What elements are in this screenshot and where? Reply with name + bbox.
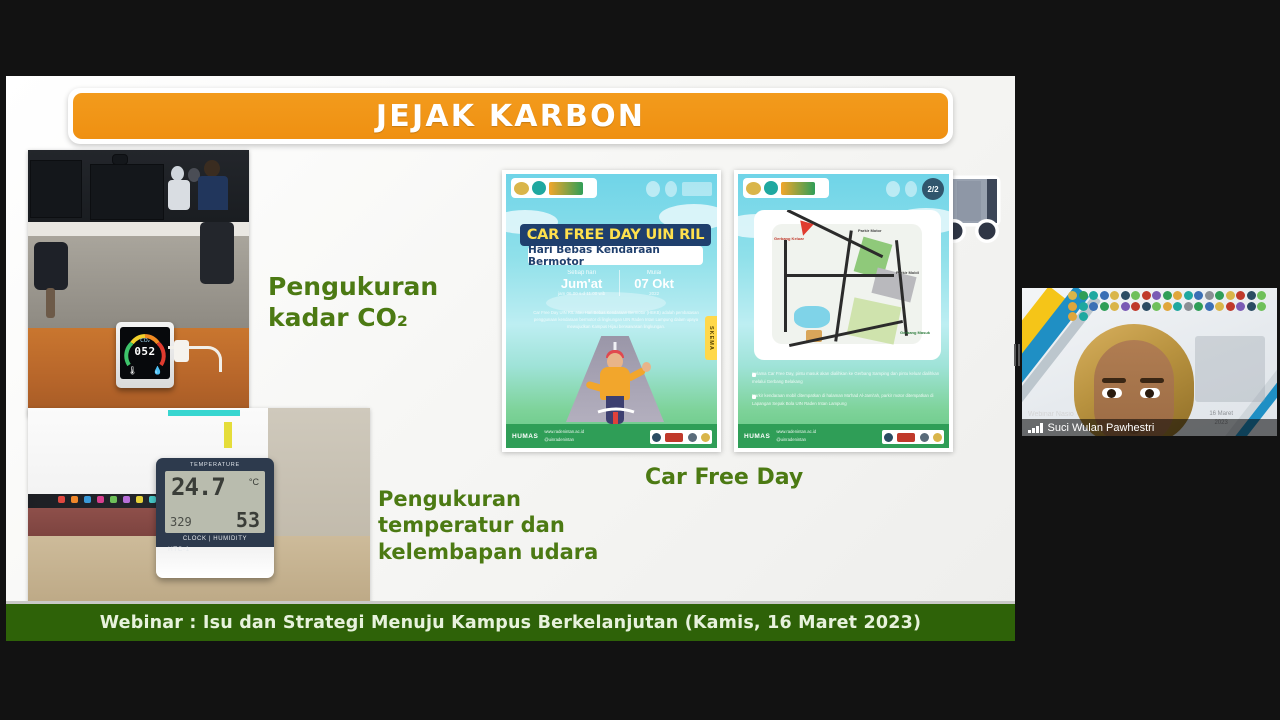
caption-temperature: Pengukuran temperatur dan kelembapan uda…	[378, 486, 598, 565]
poster-left-cert-logos	[650, 430, 712, 444]
slide-title-bar: JEJAK KARBON	[73, 93, 948, 139]
co2-meter-device: CO₂ 052 🌡💧	[116, 322, 174, 388]
photo-co2-measurement: CO₂ 052 🌡💧	[28, 150, 249, 417]
poster-left-partner-logos	[646, 179, 712, 199]
slide-title-text: JEJAK KARBON	[376, 99, 645, 134]
caption-car-free-day: Car Free Day	[645, 464, 803, 492]
temperature-unit: °C	[249, 477, 259, 487]
poster-when-label: Setiap hari	[558, 270, 605, 276]
poster-humas-label: HUMAS	[512, 433, 538, 440]
map-label-2: Parkir Mobil	[896, 270, 919, 275]
poster-right-cert-logos	[882, 430, 944, 444]
humidity-value: 53	[236, 508, 260, 532]
participant-video-tile[interactable]: Webinar Nasio 16 Maret 2023 Suci Wulan P…	[1022, 288, 1277, 436]
thermo-model-label: HTC-1	[168, 546, 190, 553]
thermo-hygrometer-device: TEMPERATURE 24.7 °C 329 53 CLOCK | HUMID…	[156, 458, 274, 578]
poster-schedule: Setiap hari Jum'at jam 06.00 s.d 11.00 w…	[530, 270, 702, 296]
map-label-3: Gerbang Masuk	[900, 330, 930, 335]
caption-temp-line1: Pengukuran	[378, 486, 598, 512]
photo-temperature-humidity: TEMPERATURE 24.7 °C 329 53 CLOCK | HUMID…	[28, 408, 370, 604]
caption-co2: Pengukuran kadar CO₂	[268, 271, 438, 334]
poster-social: @uinradenintan	[544, 436, 584, 444]
poster-left-logo-bar	[511, 178, 597, 198]
panel-resize-handle[interactable]	[1014, 344, 1020, 366]
webcam-partner-logo-strip	[1068, 291, 1268, 315]
poster-start-year: 2022	[634, 291, 674, 296]
caption-temp-line2: temperatur dan	[378, 512, 598, 538]
meeting-screen: JEJAK KARBON	[0, 0, 1280, 720]
map-label-1: Parkir Motor	[858, 228, 882, 233]
slide-title-banner: JEJAK KARBON	[68, 88, 953, 144]
poster-right-logo-bar	[743, 178, 829, 198]
webcam-date-line1: 16 Maret	[1209, 410, 1233, 419]
poster-when-value: Jum'at	[558, 276, 605, 291]
caption-temp-line3: kelembapan udara	[378, 539, 598, 565]
co2-sub-icons: 🌡💧	[120, 366, 170, 375]
thermo-lcd: 24.7 °C 329 53	[165, 471, 265, 533]
map-note-0: Selama Car Free Day, pintu masuk akan di…	[752, 370, 942, 385]
poster-right-social: @uinradenintan	[776, 436, 816, 444]
poster-start-value: 07 Okt	[634, 276, 674, 291]
poster-side-tab: SKEMA	[705, 316, 717, 360]
webcam-background-building	[1195, 336, 1265, 402]
caption-co2-line2: kadar CO₂	[268, 302, 438, 333]
slide-footer-banner: Webinar : Isu dan Strategi Menuju Kampus…	[6, 601, 1015, 641]
webcam-overlay-text: Webinar Nasio	[1028, 411, 1074, 418]
clock-value: 329	[170, 515, 192, 529]
participant-name-bar: Suci Wulan Pawhestri	[1022, 419, 1277, 436]
temperature-value: 24.7	[171, 473, 225, 501]
signal-strength-icon	[1028, 423, 1043, 433]
map-label-0: Gerbang Keluar	[774, 236, 804, 241]
poster-car-free-day: CAR FREE DAY UIN RIL Hari Bebas Kendaraa…	[502, 170, 721, 452]
poster-car-free-day-map: 2/2 Gerbang Keluar	[734, 170, 953, 452]
co2-reading: 052	[120, 345, 170, 358]
co2-label: CO₂	[120, 338, 170, 344]
map-note-1: Parkir kendaraan mobil ditempatkan di ha…	[752, 392, 942, 407]
thermo-bottom-label: CLOCK | HUMIDITY	[156, 536, 274, 542]
poster-when-time: jam 06.00 s.d 11.00 wib	[558, 291, 605, 296]
poster-right-humas-label: HUMAS	[744, 433, 770, 440]
thermo-top-label: TEMPERATURE	[156, 462, 274, 468]
campus-map: Gerbang Keluar Parkir Motor Parkir Mobil…	[754, 210, 941, 360]
poster-right-partner-logos: 2/2	[886, 179, 944, 199]
poster-page-badge: 2/2	[922, 178, 944, 200]
participant-name: Suci Wulan Pawhestri	[1048, 422, 1155, 434]
poster-body-text: Car Free Day UIN RIL atau Hari Bebas Ken…	[526, 309, 706, 330]
poster-start-label: Mulai	[634, 270, 674, 276]
shared-presentation-slide: JEJAK KARBON	[6, 76, 1015, 641]
poster-right-website: www.radenintan.ac.id	[776, 428, 816, 436]
caption-co2-line1: Pengukuran	[268, 271, 438, 302]
poster-subtitle: Hari Bebas Kendaraan Bermotor	[528, 246, 703, 265]
slide-footer-text: Webinar : Isu dan Strategi Menuju Kampus…	[100, 613, 921, 633]
poster-website: www.radenintan.ac.id	[544, 428, 584, 436]
